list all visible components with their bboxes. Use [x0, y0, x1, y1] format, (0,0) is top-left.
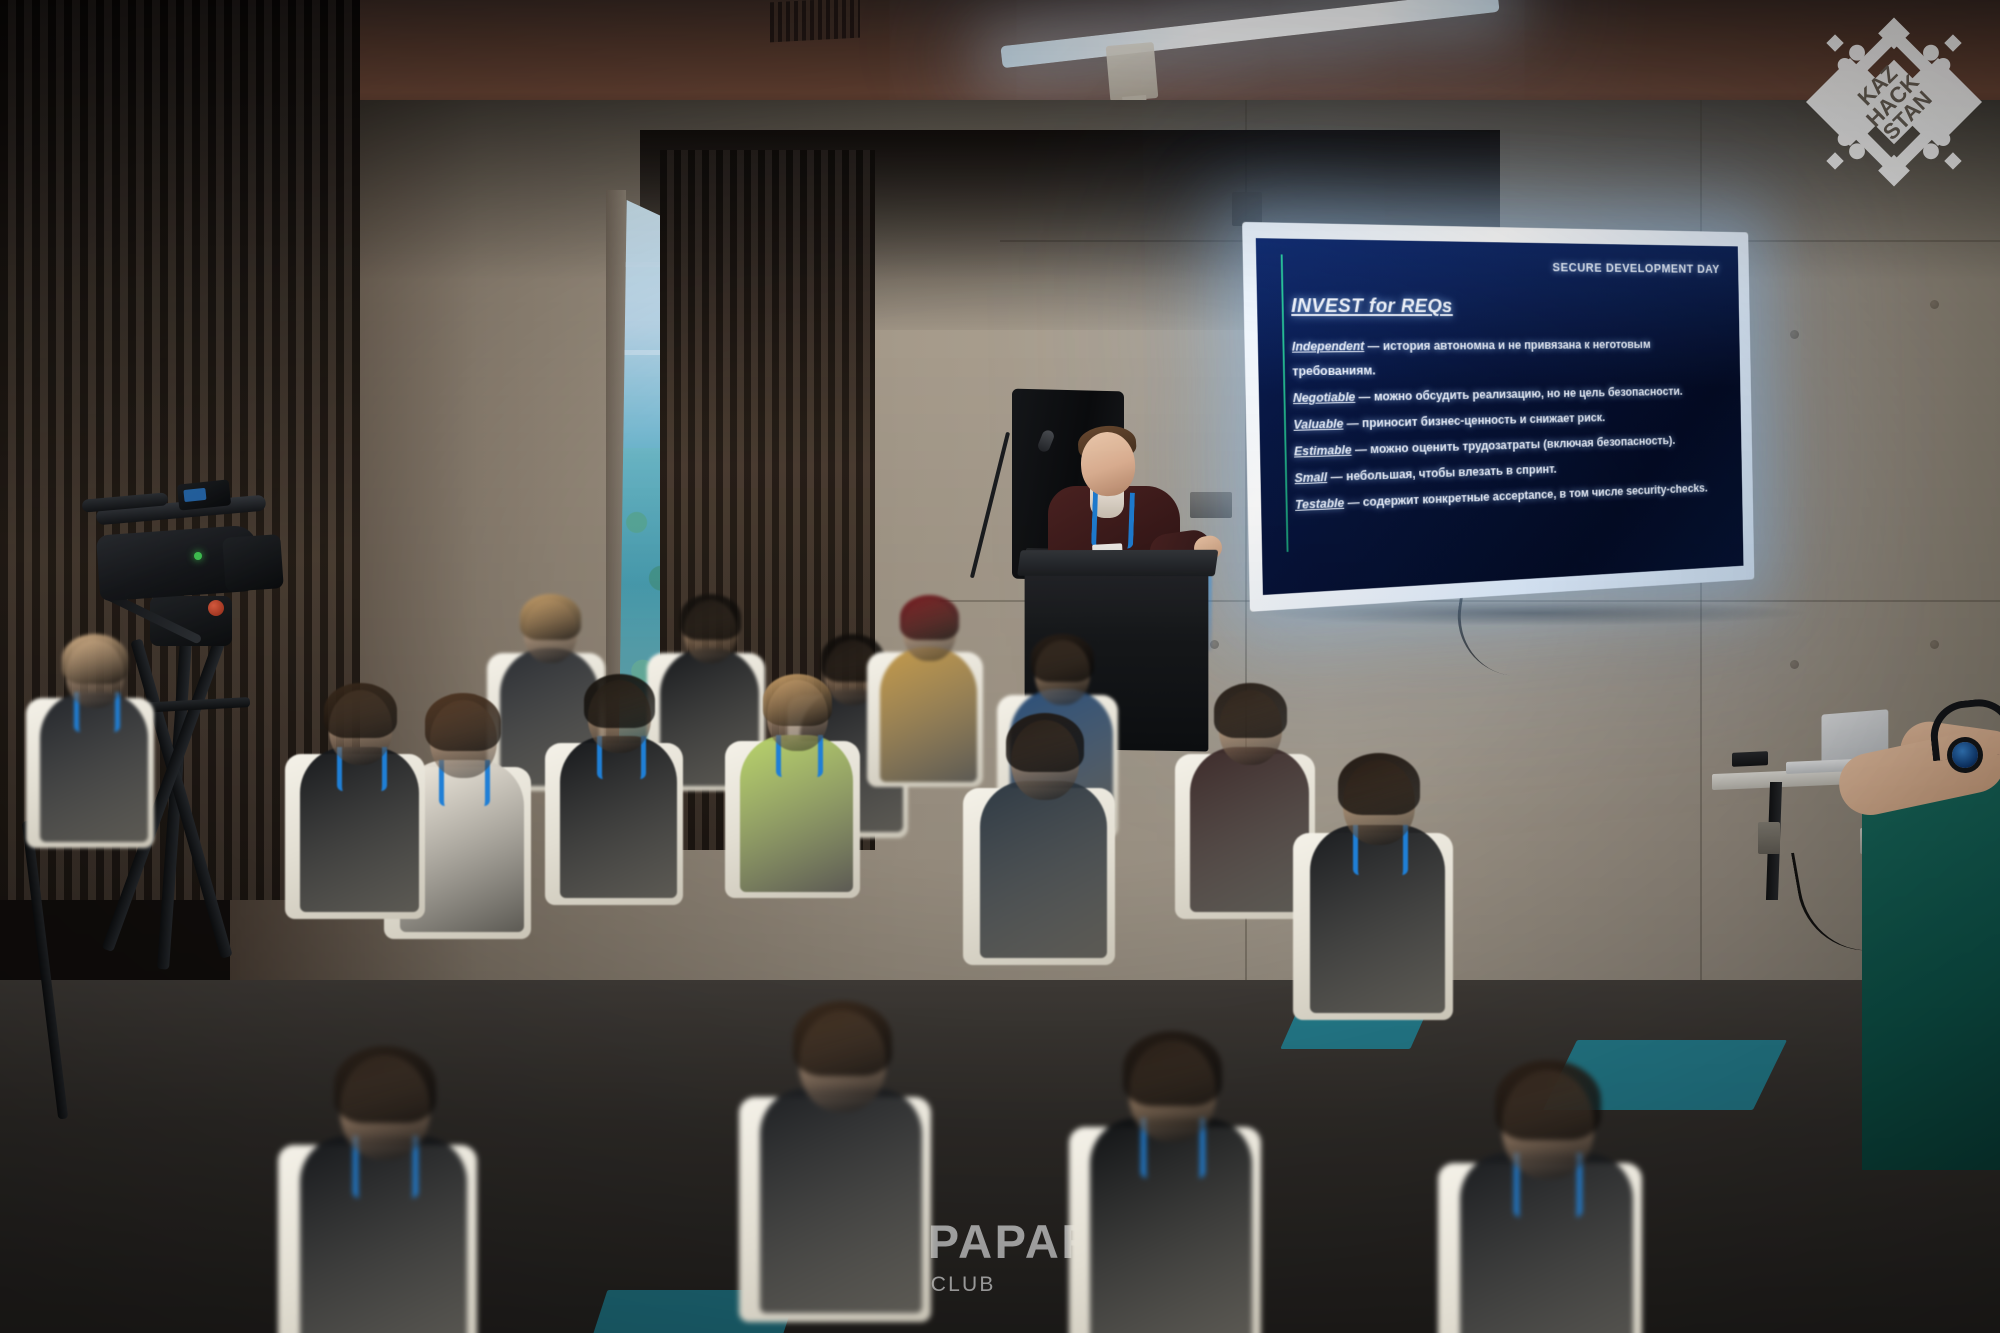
slide-bullet-text: — можно оценить трудозатраты (включая бе…	[1351, 433, 1675, 457]
attendee-torso	[980, 781, 1107, 958]
attendee-hair	[900, 595, 959, 640]
slide-canvas: SECURE DEVELOPMENT DAY INVEST for REQs I…	[1256, 238, 1744, 595]
ceiling-speaker-icon	[1106, 42, 1159, 102]
camera-tally-light	[194, 552, 202, 560]
slide-bullet-text: — можно обсудить реализацию, но не цель …	[1355, 384, 1683, 404]
attendee-hair	[1006, 713, 1084, 772]
slide-accent-bar	[1281, 254, 1289, 551]
slide-bullet-text: — приносит бизнес-ценность и снижает рис…	[1343, 410, 1605, 430]
camera-viewfinder[interactable]	[177, 479, 231, 510]
attendee-hair	[1338, 753, 1421, 816]
slide-kicker: SECURE DEVELOPMENT DAY	[1552, 260, 1720, 276]
podium-top	[1017, 550, 1218, 576]
attendee-hair	[793, 1001, 892, 1076]
kazhackstan-logo: KAZ HACK STAN	[1806, 14, 1982, 190]
attendee-hair	[334, 1046, 436, 1124]
slide-bullet-term: Valuable	[1293, 416, 1343, 432]
wall-anchor-dot	[1790, 660, 1799, 669]
wall-anchor-dot	[1930, 640, 1939, 649]
wall-switch[interactable]	[1758, 822, 1780, 854]
attendee-torso	[1190, 747, 1309, 912]
presentation-display[interactable]: SECURE DEVELOPMENT DAY INVEST for REQs I…	[1242, 222, 1754, 612]
phone-on-table[interactable]	[1732, 751, 1768, 767]
attendee-hair	[763, 674, 832, 727]
slide-bullet-term: Estimable	[1294, 442, 1352, 458]
attendee-hair	[1031, 634, 1094, 682]
attendee-torso	[880, 647, 977, 782]
attendee-torso	[760, 1088, 922, 1313]
camera-lens-icon	[222, 534, 284, 592]
attendee-hair	[680, 594, 741, 640]
slide-bullet-term: Negotiable	[1293, 389, 1356, 405]
slide-bullet-text: — небольшая, чтобы влезать в спринт.	[1327, 461, 1557, 484]
slide-bullet-list: Independent — история автономна и не при…	[1292, 332, 1717, 519]
attendee-hair	[584, 674, 655, 728]
attendee-hair	[520, 594, 581, 640]
conference-photo: SECURE DEVELOPMENT DAY INVEST for REQs I…	[0, 0, 2000, 1333]
attendee-teal-shirt	[1862, 770, 2000, 1170]
slide-bullet: Independent — история автономна и не при…	[1292, 332, 1714, 383]
attendee-hair	[324, 683, 397, 738]
slide-bullet-term: Small	[1294, 469, 1327, 485]
tripod-lock-knob[interactable]	[208, 600, 224, 616]
attendee-hair	[1214, 683, 1287, 738]
slide-bullet-term: Testable	[1295, 495, 1344, 512]
air-vent-icon	[770, 0, 860, 42]
slide-title: INVEST for REQs	[1291, 294, 1453, 318]
attendee-hair	[62, 634, 128, 684]
attendee-hair	[425, 693, 501, 751]
attendee-hair	[1123, 1031, 1222, 1106]
attendee-hair	[1495, 1060, 1601, 1140]
wall-anchor-dot	[1930, 300, 1939, 309]
slide-bullet-term: Independent	[1292, 338, 1365, 353]
presenter-lanyard	[1091, 491, 1135, 548]
wall-anchor-dot	[1790, 330, 1799, 339]
wall-sensor-plate	[1190, 492, 1232, 518]
